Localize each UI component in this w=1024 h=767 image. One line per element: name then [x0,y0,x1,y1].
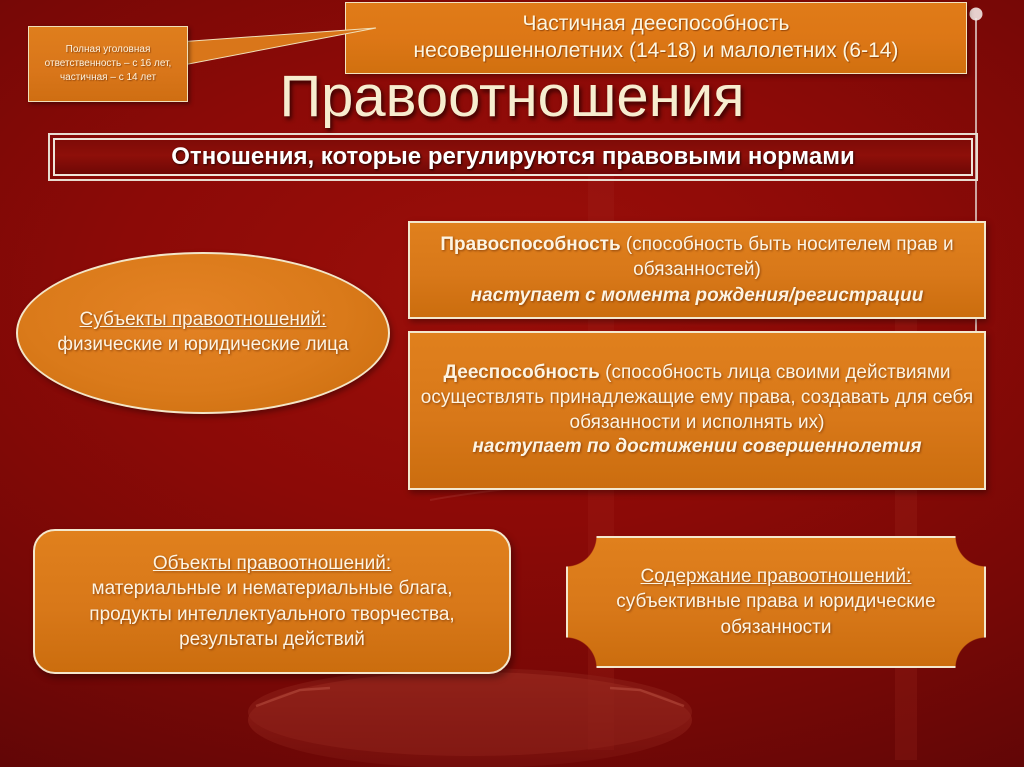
panel-deesposobnost-definition-line: Дееспособность (способность лица своими … [420,361,974,435]
box-content-header: Содержание правоотношений: [641,564,912,589]
box-content-wrapper: Содержание правоотношений: субъективные … [566,536,986,668]
panel-pravosposobnost: Правоспособность (способность быть носит… [408,221,986,319]
box-content-body: субъективные права и юридические обязанн… [588,589,964,640]
subjects-ellipse-body: физические и юридические лица [57,333,348,358]
panel-pravosposobnost-definition: (способность быть носителем прав и обяза… [621,234,954,280]
subjects-ellipse: Субъекты правоотношений: физические и юр… [16,252,390,414]
box-objects-header: Объекты правоотношений: [153,551,391,576]
page-title: Правоотношения [0,63,1024,130]
panel-deesposobnost: Дееспособность (способность лица своими … [408,331,986,490]
panel-deesposobnost-note: наступает по достижении совершеннолетия [472,435,921,460]
panel-pravosposobnost-note: наступает с момента рождения/регистрации [471,283,924,308]
subtitle-frame: Отношения, которые регулируются правовым… [48,133,978,181]
box-objects: Объекты правоотношений: материальные и н… [33,529,511,674]
box-objects-body: материальные и нематериальные блага, про… [49,576,495,652]
panel-pravosposobnost-term: Правоспособность [440,234,620,255]
panel-pravosposobnost-definition-line: Правоспособность (способность быть носит… [420,232,974,282]
slide-canvas: Частичная дееспособность несовершеннолет… [0,0,1024,767]
top-banner-line2: несовершеннолетних (14-18) и малолетних … [414,38,899,65]
subtitle-text: Отношения, которые регулируются правовым… [53,138,973,176]
panel-deesposobnost-term: Дееспособность [444,362,600,383]
top-banner-line1: Частичная дееспособность [523,11,790,38]
box-content: Содержание правоотношений: субъективные … [566,536,986,668]
subjects-ellipse-header: Субъекты правоотношений: [80,308,327,333]
